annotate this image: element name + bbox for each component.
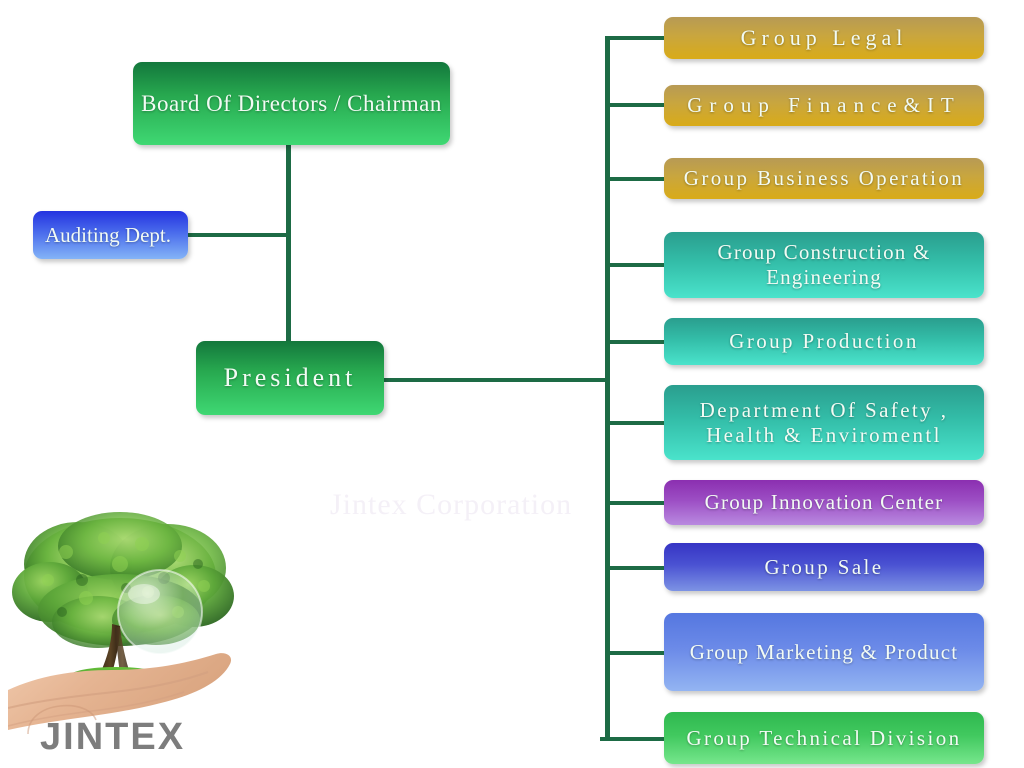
node-board-of-directors[interactable]: Board Of Directors / Chairman — [133, 62, 450, 145]
node-group-marketing-product-label: Group Marketing & Product — [672, 640, 976, 665]
node-group-legal[interactable]: Group Legal — [664, 17, 984, 59]
connector-stub-2 — [607, 103, 665, 107]
node-group-innovation-center[interactable]: Group Innovation Center — [664, 480, 984, 525]
node-group-finance-it-label: Group Finance&IT — [672, 93, 976, 118]
node-group-technical-division[interactable]: Group Technical Division — [664, 712, 984, 764]
jintex-wordmark: JINTEX — [40, 716, 185, 759]
connector-stub-3 — [607, 177, 665, 181]
node-group-sale-label: Group Sale — [672, 555, 976, 580]
connector-president-to-divisions — [382, 378, 610, 382]
node-auditing-dept-label: Auditing Dept. — [41, 223, 180, 248]
org-chart-canvas: Board Of Directors / Chairman Auditing D… — [0, 0, 1024, 768]
node-group-construction-engineering[interactable]: Group Construction & Engineering — [664, 232, 984, 298]
node-group-sale[interactable]: Group Sale — [664, 543, 984, 591]
connector-stub-5 — [607, 340, 665, 344]
connector-stub-4 — [607, 263, 665, 267]
connector-board-to-president — [286, 145, 291, 343]
node-group-innovation-center-label: Group Innovation Center — [672, 490, 976, 515]
bubble-icon — [118, 570, 202, 654]
connector-stub-9 — [607, 651, 665, 655]
node-group-construction-engineering-label: Group Construction & Engineering — [672, 240, 976, 290]
connector-stub-8 — [607, 566, 665, 570]
background-watermark: Jintex Corporation — [330, 488, 572, 522]
node-president[interactable]: President — [196, 341, 384, 415]
node-group-production-label: Group Production — [672, 329, 976, 354]
node-auditing-dept[interactable]: Auditing Dept. — [33, 211, 188, 259]
connector-stub-1 — [607, 36, 665, 40]
node-group-marketing-product[interactable]: Group Marketing & Product — [664, 613, 984, 691]
connector-division-spine — [605, 36, 610, 740]
node-group-legal-label: Group Legal — [672, 25, 976, 51]
connector-stub-6 — [607, 421, 665, 425]
connector-stub-7 — [607, 501, 665, 505]
connector-president-to-auditing — [186, 233, 290, 237]
node-group-business-operation-label: Group Business Operation — [672, 166, 976, 191]
node-department-safety-health-environment[interactable]: Department Of Safety , Health & Envirome… — [664, 385, 984, 460]
node-board-of-directors-label: Board Of Directors / Chairman — [141, 90, 442, 117]
node-group-business-operation[interactable]: Group Business Operation — [664, 158, 984, 199]
node-president-label: President — [204, 363, 376, 394]
node-group-technical-division-label: Group Technical Division — [672, 726, 976, 751]
node-group-production[interactable]: Group Production — [664, 318, 984, 365]
connector-stub-10 — [600, 737, 665, 741]
node-group-finance-it[interactable]: Group Finance&IT — [664, 85, 984, 126]
node-department-safety-health-environment-label: Department Of Safety , Health & Envirome… — [672, 398, 976, 448]
